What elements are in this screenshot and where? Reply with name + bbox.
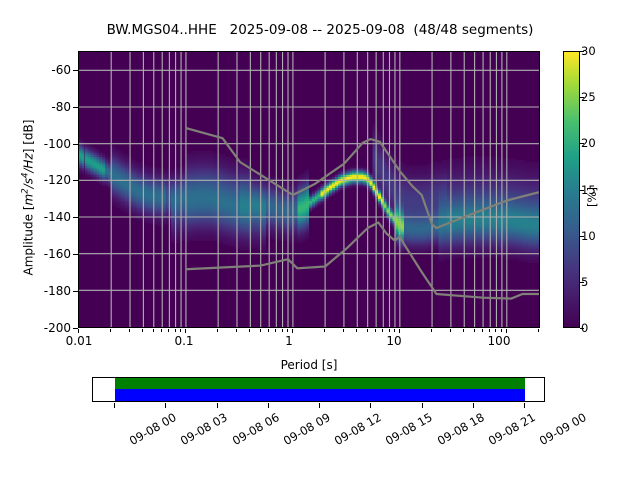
colorbar-label: [%] [585,137,599,257]
timeline-tick-mark [268,403,269,408]
x-tick-mark [161,329,162,332]
x-tick-mark [474,329,475,332]
x-tick-mark [382,329,383,332]
timeline-tick-mark [217,403,218,408]
x-tick-mark [489,329,490,332]
x-tick-mark [506,329,507,333]
x-tick-mark [175,329,176,332]
x-tick-mark [110,329,111,332]
x-tick-mark [431,329,432,332]
x-axis-tick-labels: 0.01 0.1 1 10 100 [0,334,640,354]
data-coverage-timeline[interactable] [92,377,545,402]
x-tick-label: 0.1 [174,334,193,348]
colorbar-tick-label: 30 [581,44,596,58]
x-tick-mark [394,329,395,332]
x-tick-mark [501,329,502,332]
colorbar-tick-label: 0 [581,321,588,335]
timeline-tick-mark [319,403,320,408]
timeline-tick-label: 09-08 00 [127,410,179,448]
x-tick-mark [78,329,79,333]
x-tick-mark [287,329,288,332]
x-tick-mark [217,329,218,332]
x-tick-label: 1 [285,334,293,348]
y-tick-label: -120 [0,173,71,187]
x-tick-mark [168,329,169,332]
x-tick-mark [343,329,344,332]
timeline-tick-mark [165,403,166,408]
x-tick-label: 100 [488,334,511,348]
page-title: BW.MGS04..HHE 2025-09-08 -- 2025-09-08 (… [0,22,640,38]
timeline-tick-label: 09-08 21 [486,410,538,448]
timeline-tick-mark [370,403,371,408]
colorbar-tick-label: 25 [581,90,596,104]
x-tick-mark [180,329,181,332]
x-tick-mark [495,329,496,332]
x-tick-mark [275,329,276,332]
x-tick-mark [482,329,483,332]
x-tick-mark [367,329,368,332]
x-tick-mark [268,329,269,332]
coverage-bar-green [115,378,525,389]
x-tick-mark [129,329,130,332]
coverage-bar-blue [115,389,525,401]
y-tick-label: -160 [0,247,71,261]
ppsd-heatmap-axes[interactable] [78,51,540,328]
timeline-tick-mark [524,403,525,408]
timeline-tick-label: 09-08 03 [178,410,230,448]
y-tick-label: -100 [0,137,71,151]
x-tick-mark [463,329,464,332]
y-tick-label: -60 [0,63,71,77]
timeline-tick-mark [422,403,423,408]
colorbar[interactable] [563,51,580,328]
x-tick-mark [282,329,283,332]
x-tick-label: 0.01 [66,334,93,348]
x-axis-label: Period [s] [78,358,540,372]
timeline-tick-label: 09-08 06 [229,410,281,448]
timeline-tick-label: 09-08 12 [332,410,384,448]
y-tick-label: -140 [0,210,71,224]
x-tick-mark [450,329,451,332]
y-axis-tick-labels: -60 -80 -100 -120 -140 -160 -180 -200 [0,0,71,480]
x-tick-mark [185,329,186,333]
x-tick-mark [356,329,357,332]
x-tick-mark [236,329,237,332]
timeline-tick-label: 09-08 18 [434,410,486,448]
timeline-tick-mark [114,403,115,408]
x-tick-mark [538,329,539,332]
x-tick-mark [153,329,154,332]
colorbar-tick-label: 5 [581,275,588,289]
y-tick-label: -180 [0,284,71,298]
timeline-tick-label: 09-09 00 [537,410,589,448]
y-tick-label: -80 [0,100,71,114]
y-tick-label: -200 [0,321,71,335]
x-tick-mark [375,329,376,332]
timeline-tick-label: 09-08 15 [383,410,435,448]
x-tick-mark [142,329,143,332]
x-tick-mark [389,329,390,332]
x-tick-mark [249,329,250,332]
x-tick-mark [399,329,400,333]
x-tick-mark [324,329,325,332]
timeline-tick-mark [473,403,474,408]
x-tick-mark [292,329,293,333]
x-tick-mark [260,329,261,332]
timeline-tick-label: 09-08 09 [281,410,333,448]
x-tick-label: 10 [386,334,401,348]
